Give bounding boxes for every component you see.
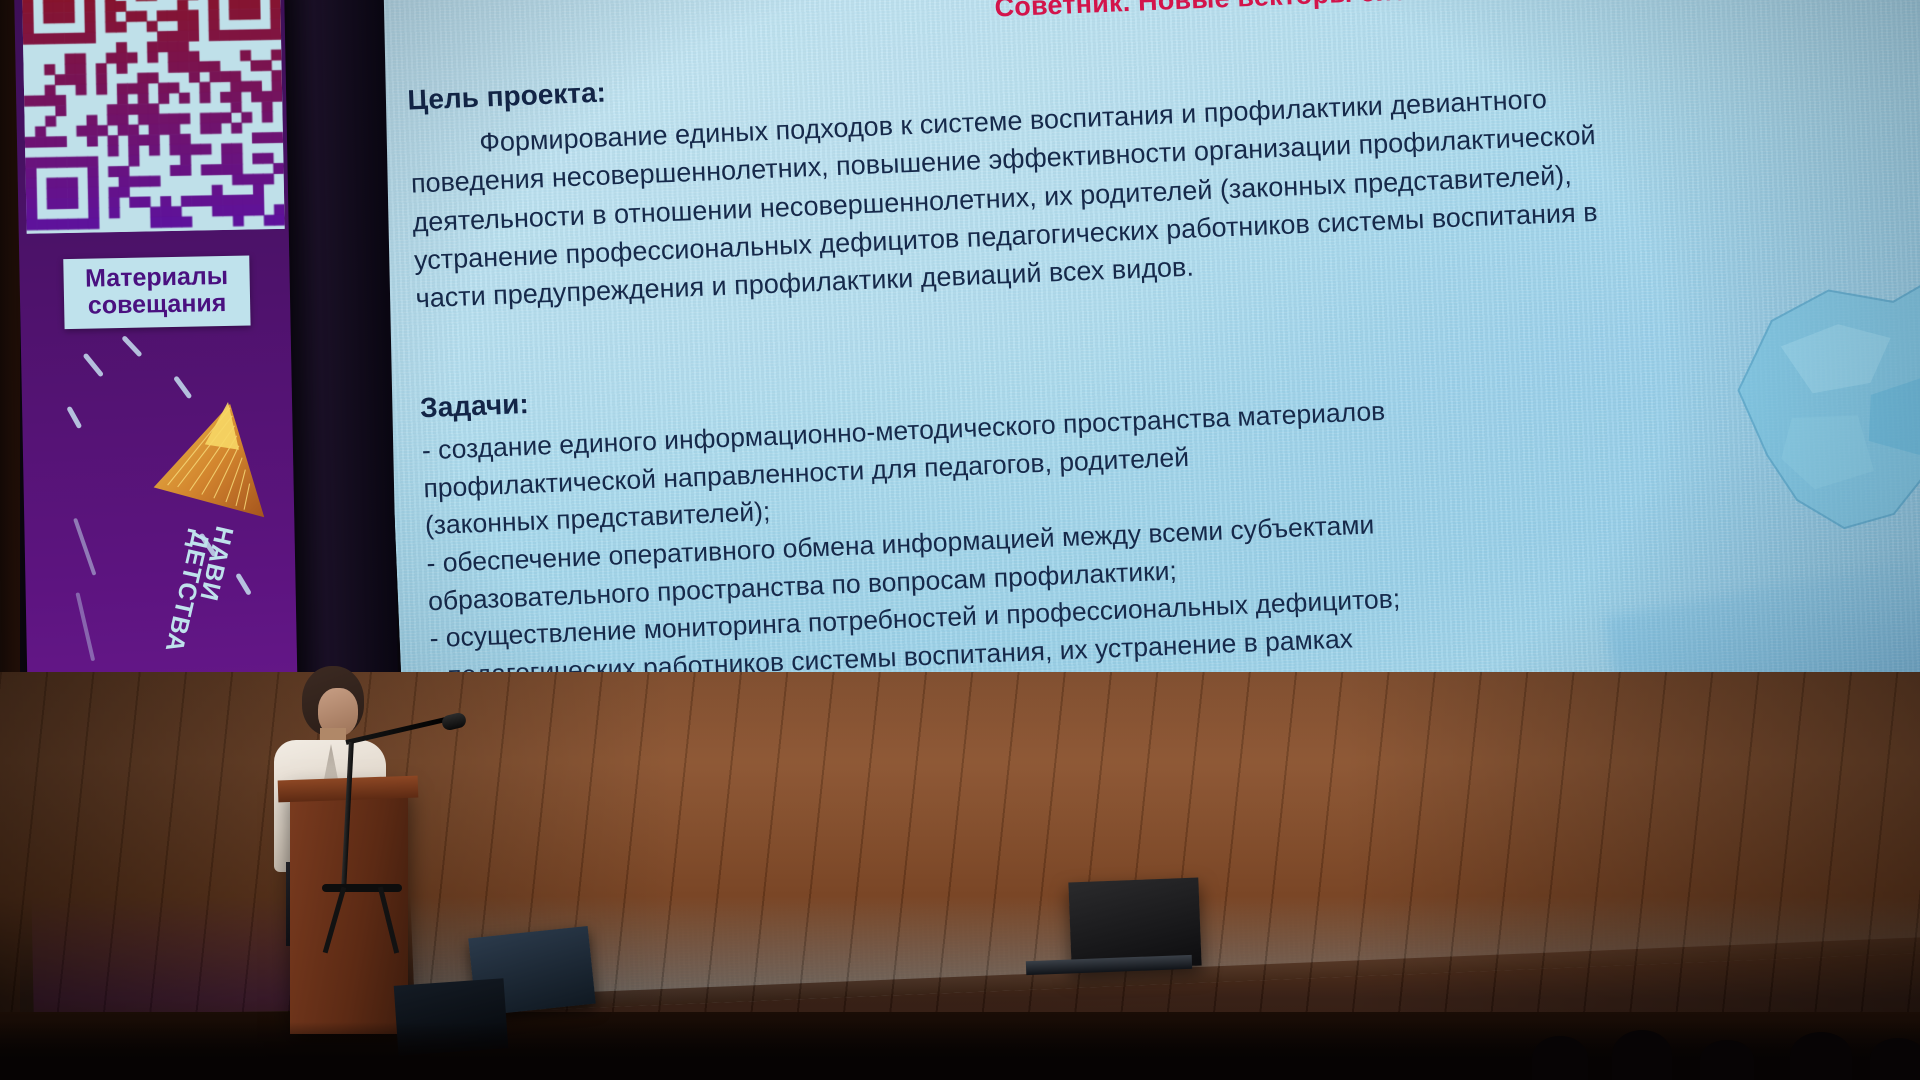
krasnodar-region-map xyxy=(1716,259,1920,561)
banner-dash xyxy=(173,375,192,399)
banner-badge: Материалы совещания xyxy=(63,256,250,330)
banner-dash xyxy=(73,518,96,576)
photo-scene: научно-педагогической общественности Кра… xyxy=(0,0,1920,1080)
microphone-base xyxy=(322,884,402,892)
banner-dash xyxy=(235,573,252,596)
audience-head xyxy=(1870,1038,1920,1080)
qr-code xyxy=(22,0,285,234)
bird-wing-graphic xyxy=(142,398,304,541)
banner-dash xyxy=(75,592,95,661)
audience-head xyxy=(1790,1032,1852,1080)
banner-badge-line-2: совещания xyxy=(68,290,246,320)
audience-head xyxy=(1532,1036,1588,1080)
audience-head xyxy=(1612,1030,1672,1080)
banner-dash xyxy=(83,353,105,378)
banner-dash xyxy=(66,406,82,429)
audience-head xyxy=(1700,1040,1754,1080)
banner-dash xyxy=(121,335,142,357)
